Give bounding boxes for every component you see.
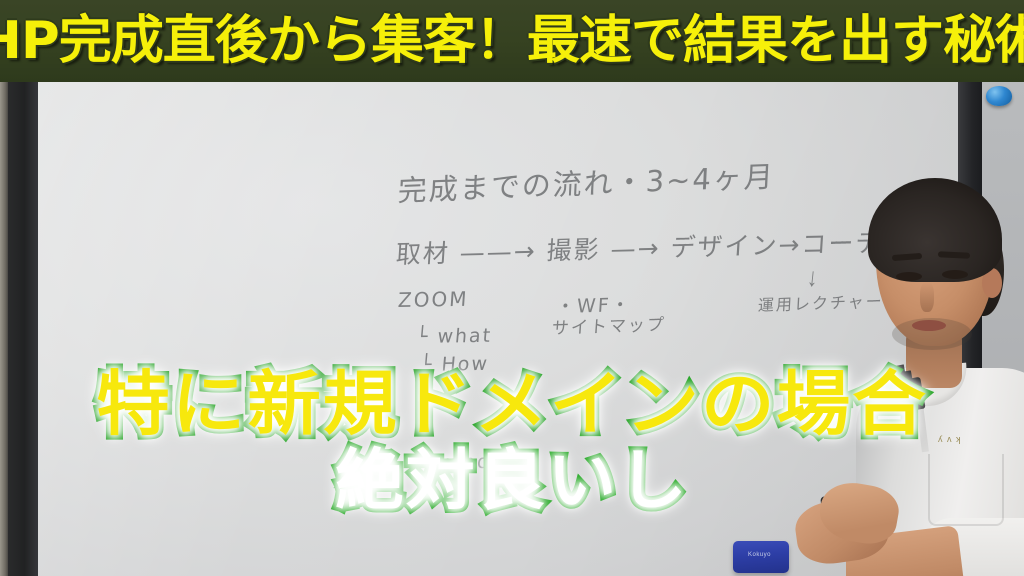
whiteboard-note-zoom: ZOOM [397,287,469,312]
presenter-eye-right [942,270,968,279]
whiteboard-note-sitemap: サイトマップ [551,310,667,339]
banner-title: HP完成直後から集客！最速で結果を出す秘術 [0,15,1024,67]
presenter-hair [868,178,1002,282]
whiteboard-frame-left [8,82,38,576]
presenter-shirt-pocket [928,454,1004,526]
video-scene: 完成までの流れ・3~4ヶ月 取材 ——→ 撮影 —→ デザイン→コーディング Z… [0,0,1024,576]
title-banner: HP完成直後から集客！最速で結果を出す秘術 [0,0,1024,82]
whiteboard-note-who: └ who [423,451,492,474]
presenter-nose [920,282,934,312]
whiteboard-note-how: └ How [419,353,490,376]
presenter-mouth [912,320,946,331]
eraser-label: Kokuyo [748,552,771,558]
presenter-shirt-logo: ʎ ʌ ʞ [938,434,962,444]
video-frame: 完成までの流れ・3~4ヶ月 取材 ——→ 撮影 —→ デザイン→コーディング Z… [0,0,1024,576]
whiteboard-note-what: └ what [415,325,493,348]
presenter-eye-left [896,272,922,281]
